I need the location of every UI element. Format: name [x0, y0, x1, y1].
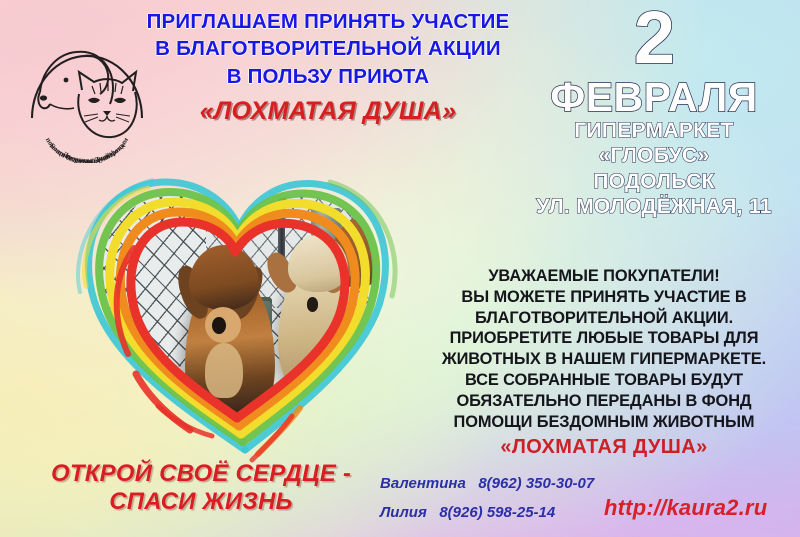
body-line-4: ПРИОБРЕТИТЕ ЛЮБЫЕ ТОВАРЫ ДЛЯ [408, 328, 800, 349]
slogan-line-1: ОТКРОЙ СВОЁ СЕРДЦЕ - [36, 460, 366, 488]
header-line-1: ПРИГЛАШАЕМ ПРИНЯТЬ УЧАСТИЕ [118, 8, 538, 35]
header-fund-name: «ЛОХМАТАЯ ДУША» [118, 97, 538, 126]
contact-row-2: Лилия 8(926) 598-25-14 [380, 499, 630, 528]
event-day-number: 2 [508, 2, 800, 75]
header-text-block: ПРИГЛАШАЕМ ПРИНЯТЬ УЧАСТИЕ В БЛАГОТВОРИТ… [118, 8, 538, 126]
svg-text:Лохматая Душа: Лохматая Душа [60, 149, 113, 163]
venue-line-3: ПОДОЛЬСК [508, 169, 800, 195]
event-month: ФЕВРАЛЯ [508, 77, 800, 118]
contact-row-1: Валентина 8(962) 350-30-07 [380, 470, 630, 499]
contacts-block: Валентина 8(962) 350-30-07 Лилия 8(926) … [380, 470, 630, 527]
contact-phone-1: 8(962) 350-30-07 [478, 475, 594, 492]
logo-caption-line3: Лохматая Душа [60, 149, 113, 163]
body-text-block: УВАЖАЕМЫЕ ПОКУПАТЕЛИ! ВЫ МОЖЕТЕ ПРИНЯТЬ … [408, 266, 800, 459]
venue-line-1: ГИПЕРМАРКЕТ [508, 118, 800, 144]
date-venue-block: 2 ФЕВРАЛЯ ГИПЕРМАРКЕТ «ГЛОБУС» ПОДОЛЬСК … [508, 2, 800, 220]
body-fund-name: «ЛОХМАТАЯ ДУША» [408, 436, 800, 459]
contact-name-1: Валентина [380, 475, 466, 492]
contact-name-2: Лилия [380, 504, 427, 521]
body-line-7: ОБЯЗАТЕЛЬНО ПЕРЕДАНЫ В ФОНД [408, 391, 800, 412]
venue-line-4: УЛ. МОЛОДЁЖНАЯ, 11 [508, 194, 800, 220]
body-line-8: ПОМОЩИ БЕЗДОМНЫМ ЖИВОТНЫМ [408, 412, 800, 433]
contact-phone-2: 8(926) 598-25-14 [439, 504, 555, 521]
body-line-3: БЛАГОТВОРИТЕЛЬНОЙ АКЦИИ. [408, 308, 800, 329]
body-line-2: ВЫ МОЖЕТЕ ПРИНЯТЬ УЧАСТИЕ В [408, 287, 800, 308]
heart-photo-frame [62, 168, 407, 463]
header-line-2: В БЛАГОТВОРИТЕЛЬНОЙ АКЦИИ [118, 35, 538, 62]
header-line-3: В ПОЛЬЗУ ПРИЮТА [118, 63, 538, 90]
venue-line-2: «ГЛОБУС» [508, 143, 800, 169]
body-line-5: ЖИВОТНЫХ В НАШЕМ ГИПЕРМАРКЕТЕ. [408, 349, 800, 370]
slogan-line-2: СПАСИ ЖИЗНЬ [36, 488, 366, 516]
slogan-block: ОТКРОЙ СВОЁ СЕРДЦЕ - СПАСИ ЖИЗНЬ [36, 460, 366, 517]
rainbow-heart-ribbon [62, 168, 407, 463]
body-line-1: УВАЖАЕМЫЕ ПОКУПАТЕЛИ! [408, 266, 800, 287]
charity-event-poster: Благотворительный фонд помощи бездомным … [0, 0, 800, 537]
body-line-6: ВСЕ СОБРАННЫЕ ТОВАРЫ БУДУТ [408, 370, 800, 391]
website-url[interactable]: http://kaura2.ru [604, 495, 767, 521]
